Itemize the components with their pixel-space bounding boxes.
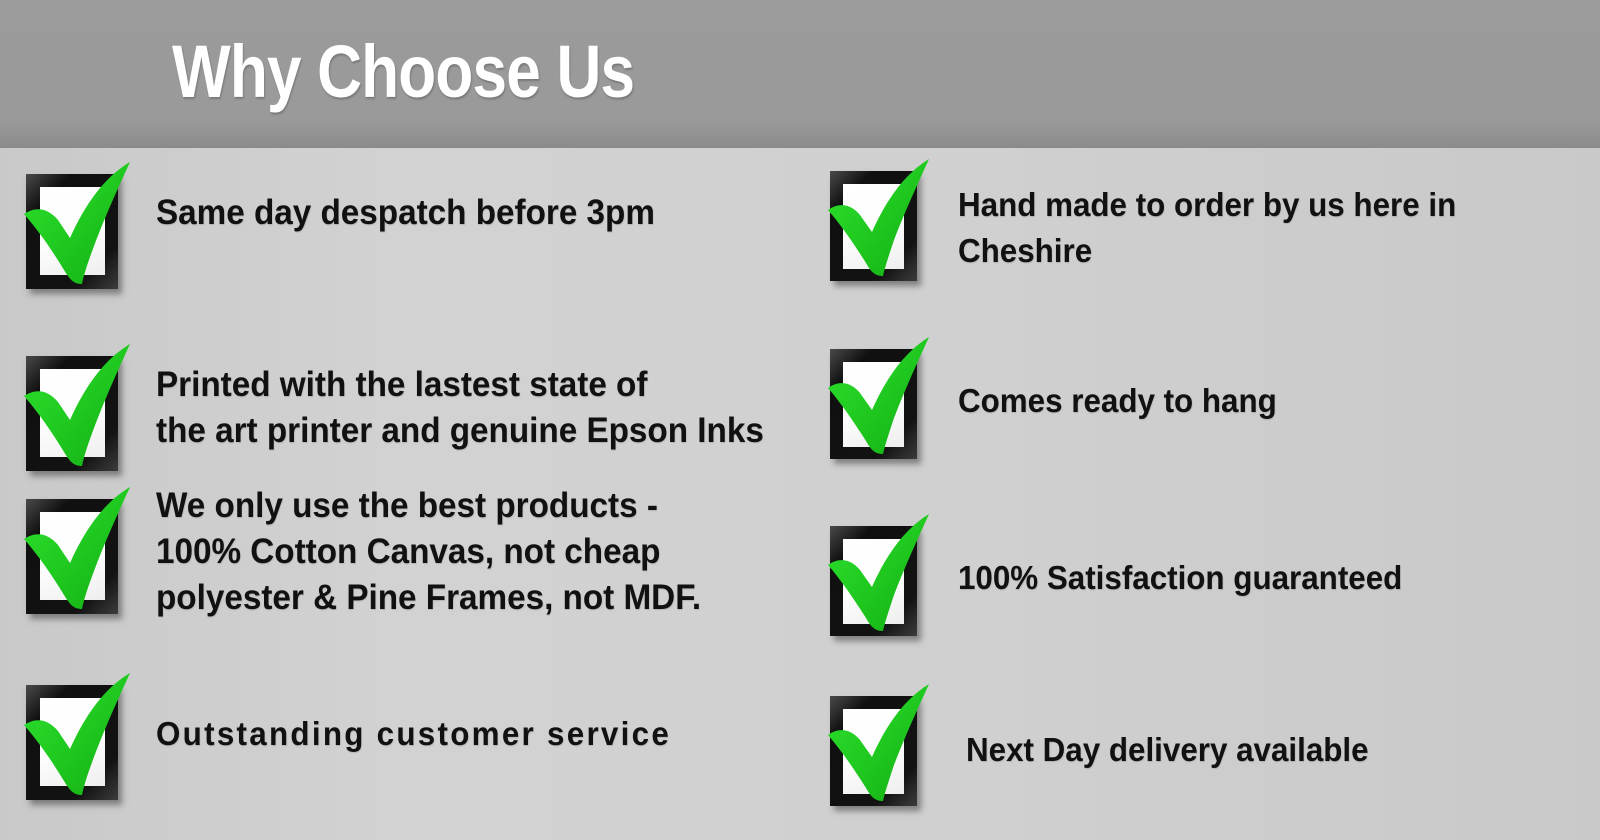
green-check-icon — [818, 503, 936, 645]
green-check-icon — [14, 332, 138, 480]
green-check-icon — [818, 326, 936, 468]
check-mark-glyph — [818, 503, 936, 645]
check-mark-glyph — [818, 148, 936, 290]
why-choose-us-banner: Why Choose Us Why Choose Us — [0, 0, 1600, 840]
page-title-left: Why Choose Us — [172, 22, 634, 122]
feature-item: Outstanding customer service — [14, 661, 698, 809]
feature-item: Next Day delivery available — [818, 673, 1390, 815]
feature-text: Hand made to order by us here in Cheshir… — [958, 182, 1456, 274]
header-half-right: Why Choose Us — [800, 0, 1600, 148]
feature-column-left: Same day despatch before 3pm — [0, 148, 800, 840]
feature-columns: Same day despatch before 3pm — [0, 148, 1600, 840]
feature-text: Same day despatch before 3pm — [156, 190, 655, 236]
check-mark-glyph — [818, 326, 936, 468]
feature-item: Printed with the lastest state of the ar… — [14, 332, 796, 480]
green-check-icon — [14, 661, 138, 809]
check-mark-glyph — [818, 673, 936, 815]
header-half-left: Why Choose Us — [0, 0, 800, 148]
feature-item: Same day despatch before 3pm — [14, 150, 681, 298]
feature-text: Printed with the lastest state of the ar… — [156, 362, 764, 454]
green-check-icon — [818, 673, 936, 815]
feature-text: 100% Satisfaction guaranteed — [958, 555, 1402, 601]
feature-text: Next Day delivery available — [966, 727, 1369, 773]
green-check-icon — [14, 150, 138, 298]
check-mark-glyph — [14, 661, 138, 809]
feature-item: 100% Satisfaction guaranteed — [818, 503, 1426, 645]
feature-item: We only use the best products - 100% Cot… — [14, 475, 730, 623]
green-check-icon — [14, 475, 138, 623]
check-mark-glyph — [14, 475, 138, 623]
check-mark-glyph — [14, 150, 138, 298]
feature-column-right: Hand made to order by us here in Cheshir… — [800, 148, 1600, 840]
feature-item: Comes ready to hang — [818, 326, 1294, 468]
check-mark-glyph — [14, 332, 138, 480]
feature-text: We only use the best products - 100% Cot… — [156, 483, 701, 621]
feature-item: Hand made to order by us here in Cheshir… — [818, 148, 1482, 290]
green-check-icon — [818, 148, 936, 290]
feature-text: Outstanding customer service — [156, 711, 671, 757]
header-band: Why Choose Us Why Choose Us — [0, 0, 1600, 148]
feature-text: Comes ready to hang — [958, 378, 1277, 424]
